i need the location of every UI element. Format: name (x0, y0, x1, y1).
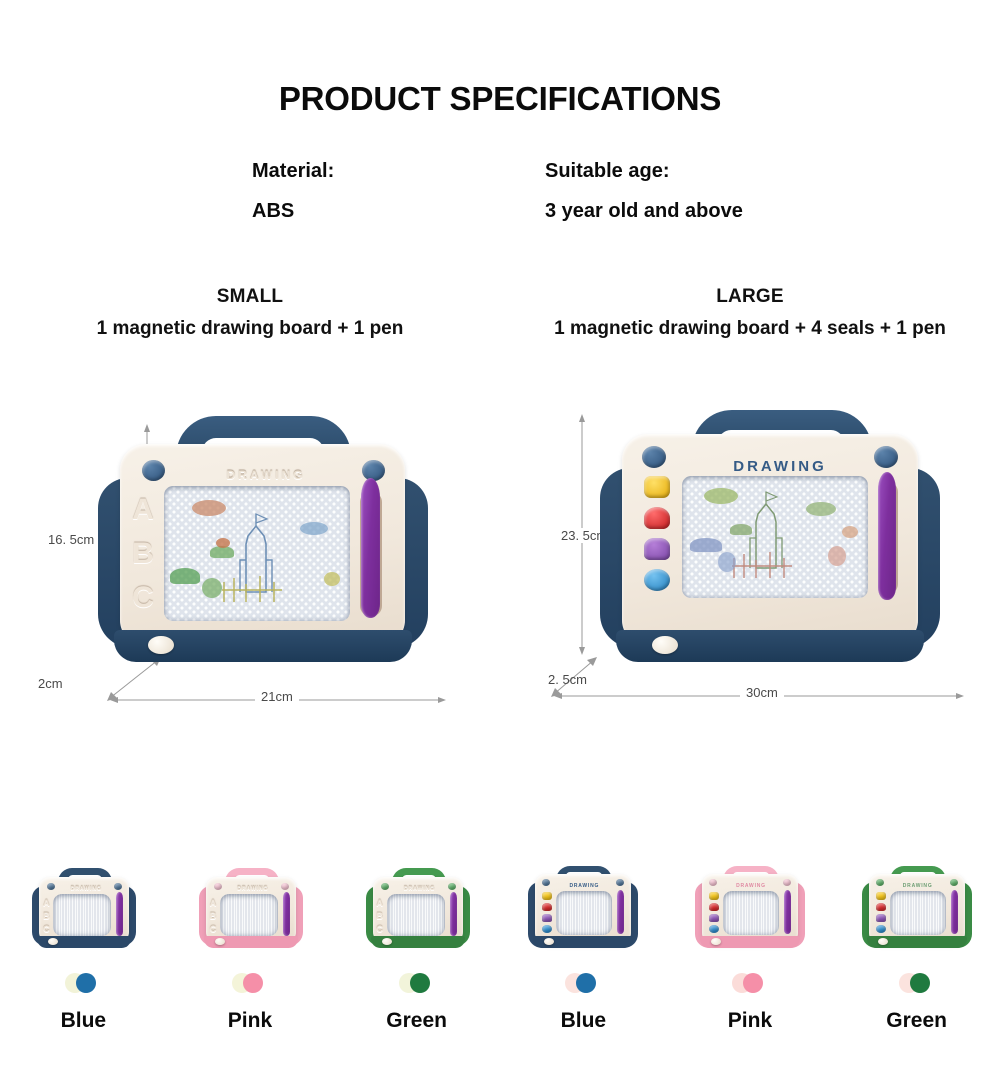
small-board-pen[interactable] (361, 478, 380, 618)
variant-seal-purple (542, 914, 552, 922)
variant-side-letters: ABC (41, 896, 51, 936)
doodle-bush-blue (690, 538, 722, 552)
variant-label: Blue (508, 1009, 658, 1033)
swatch-front-dot (76, 973, 96, 993)
large-board-pen[interactable] (878, 472, 896, 600)
variant-thumb: DRAWING (842, 862, 992, 967)
specifications-grid: Material: ABS Suitable age: 3 year old a… (0, 160, 1000, 222)
variant-brand-text: DRAWING (62, 886, 110, 892)
doodle-bush-green (170, 568, 200, 584)
variant-brand-text: DRAWING (894, 883, 942, 889)
large-board-figure: 23. 5cm 2. 5cm 30cm DRAWING (540, 408, 1000, 738)
variant-thumb: DRAWING ABC (175, 862, 325, 967)
variant-swatches (342, 973, 492, 995)
doodle-star-green (202, 578, 222, 598)
variant-seal-red (709, 903, 719, 911)
variant-large-blue[interactable]: DRAWING Blue (508, 862, 658, 1033)
variant-brand-text: DRAWING (727, 883, 775, 889)
variant-seal-purple (709, 914, 719, 922)
variant-seal-yellow (876, 892, 886, 900)
spec-material: Material: ABS (252, 160, 545, 222)
large-depth-dimension: 2. 5cm (548, 672, 587, 687)
swatch-front-dot (910, 973, 930, 993)
letter-a: A (132, 493, 154, 527)
variant-swatches (175, 973, 325, 995)
variant-brand-text: DRAWING (229, 886, 277, 892)
small-board-knob-right[interactable] (362, 460, 385, 481)
large-board-product: DRAWING (600, 410, 940, 666)
size-large-name: LARGE (500, 286, 1000, 308)
doodle-bush-green-2 (730, 524, 752, 535)
small-board-knob-left[interactable] (142, 460, 165, 481)
variant-large-green[interactable]: DRAWING Green (842, 862, 992, 1033)
doodle-cloud-green-2 (806, 502, 836, 516)
variant-label: Pink (175, 1009, 325, 1033)
spec-material-value: ABS (252, 200, 545, 222)
doodle-animal-pink (828, 546, 846, 566)
small-width-dimension: 21cm (255, 689, 299, 704)
size-small: SMALL 1 magnetic drawing board + 1 pen (0, 286, 500, 340)
variant-swatches (675, 973, 825, 995)
variant-side-letters: ABC (208, 896, 218, 936)
size-small-name: SMALL (0, 286, 500, 308)
small-height-dimension: 16. 5cm (48, 532, 94, 547)
spec-age-label: Suitable age: (545, 160, 838, 182)
variant-brand-text: DRAWING (560, 883, 608, 889)
size-large-contents: 1 magnetic drawing board + 4 seals + 1 p… (500, 318, 1000, 340)
large-board-eraser-slider[interactable] (652, 636, 678, 654)
large-board-knob-right[interactable] (874, 446, 898, 468)
doodle-butterfly (842, 526, 858, 538)
variant-seal-purple (876, 914, 886, 922)
variant-seal-blue (876, 925, 886, 933)
small-board-brand-text: DRAWING (186, 468, 346, 482)
small-board-figure: 16. 5cm 2cm 21cm DRAWING A B C (30, 408, 500, 738)
product-figures-row: 16. 5cm 2cm 21cm DRAWING A B C (0, 408, 1000, 738)
variant-thumb: DRAWING (675, 862, 825, 967)
variant-side-letters: ABC (375, 896, 385, 936)
doodle-dot-orange (216, 538, 230, 548)
size-large: LARGE 1 magnetic drawing board + 4 seals… (500, 286, 1000, 340)
doodle-flower-yellow (324, 572, 340, 586)
doodle-fence-large (732, 546, 802, 586)
spec-age: Suitable age: 3 year old and above (545, 160, 838, 222)
variant-swatches (508, 973, 658, 995)
variant-seal-blue (709, 925, 719, 933)
seal-circle-blue[interactable] (644, 569, 670, 591)
variant-label: Pink (675, 1009, 825, 1033)
doodle-cloud-green (704, 488, 738, 504)
small-board-product: DRAWING A B C (98, 416, 428, 666)
variant-seal-red (542, 903, 552, 911)
variant-seal-red (876, 903, 886, 911)
variant-label: Green (342, 1009, 492, 1033)
variant-thumb: DRAWING ABC (8, 862, 158, 967)
variant-thumb: DRAWING (508, 862, 658, 967)
variant-label: Green (842, 1009, 992, 1033)
small-variants-group: DRAWING ABC Blue (0, 862, 500, 1033)
size-small-contents: 1 magnetic drawing board + 1 pen (0, 318, 500, 340)
variant-small-green[interactable]: DRAWING ABC Green (342, 862, 492, 1033)
page-title: PRODUCT SPECIFICATIONS (0, 80, 1000, 118)
small-board-eraser-slider[interactable] (148, 636, 174, 654)
variant-swatches (8, 973, 158, 995)
large-width-dimension: 30cm (740, 685, 784, 700)
variant-swatches (842, 973, 992, 995)
doodle-figure-blue (718, 552, 736, 572)
swatch-front-dot (743, 973, 763, 993)
swatch-front-dot (410, 973, 430, 993)
variant-thumb: DRAWING ABC (342, 862, 492, 967)
letter-c: C (132, 581, 154, 615)
swatch-front-dot (243, 973, 263, 993)
letter-b: B (132, 537, 154, 571)
doodle-cloud-orange (192, 500, 226, 516)
spec-age-value: 3 year old and above (545, 200, 838, 222)
small-board-screen[interactable] (164, 486, 350, 621)
variant-seal-yellow (542, 892, 552, 900)
variant-brand-text: DRAWING (396, 886, 444, 892)
color-variants-row: DRAWING ABC Blue (0, 862, 1000, 1033)
variant-small-blue[interactable]: DRAWING ABC Blue (8, 862, 158, 1033)
variant-small-pink[interactable]: DRAWING ABC Pink (175, 862, 325, 1033)
large-board-brand-text: DRAWING (700, 458, 860, 475)
small-depth-dimension: 2cm (38, 676, 63, 691)
size-headings-row: SMALL 1 magnetic drawing board + 1 pen L… (0, 286, 1000, 340)
large-variants-group: DRAWING Blue (500, 862, 1000, 1033)
small-board-side-letters: A B C (126, 488, 160, 620)
variant-large-pink[interactable]: DRAWING Pink (675, 862, 825, 1033)
seal-triangle-purple[interactable] (644, 538, 670, 560)
doodle-fence (222, 568, 292, 608)
doodle-cloud-blue (300, 522, 328, 535)
seal-heart-red[interactable] (644, 507, 670, 529)
variant-label: Blue (8, 1009, 158, 1033)
variant-seal-yellow (709, 892, 719, 900)
seal-square-yellow[interactable] (644, 476, 670, 498)
large-board-screen[interactable] (682, 476, 868, 598)
swatch-front-dot (576, 973, 596, 993)
spec-material-label: Material: (252, 160, 545, 182)
large-board-knob-left[interactable] (642, 446, 666, 468)
